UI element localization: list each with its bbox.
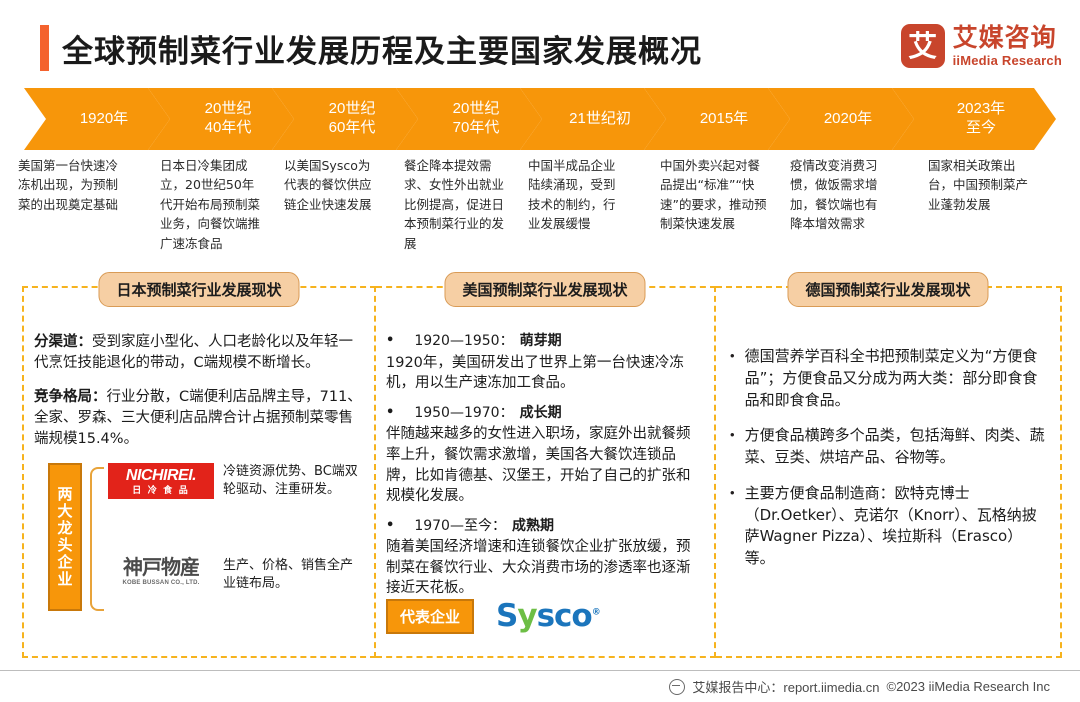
usa-stage-3: •1970—至今：成熟期随着美国经济增速和连锁餐饮企业扩张放缓，预制菜在餐饮行业… <box>386 517 704 599</box>
timeline-step-7-label: 2020年 <box>824 110 872 129</box>
timeline-step-2-label2: 40年代 <box>205 119 252 138</box>
japan-paragraph-competition-label: 竞争格局： <box>34 389 107 405</box>
nichirei-logo-line1: NICHIREI. <box>126 468 196 484</box>
bullet-icon: • <box>730 346 735 411</box>
timeline-step-6-label: 2015年 <box>700 110 748 129</box>
japan-paragraph-competition: 竞争格局：行业分散，C端便利店品牌主导，711、全家、罗森、三大便利店品牌合计占… <box>34 387 364 450</box>
timeline-description-1: 美国第一台快速冷冻机出现，为预制菜的出现奠定基础 <box>18 156 122 214</box>
usa-stage-1-body: 1920年，美国研发出了世界上第一台快速冷冻机，用以生产速冻加工食品。 <box>386 353 704 394</box>
bullet-icon: • <box>730 483 735 570</box>
timeline-step-3-label: 20世纪 <box>329 100 376 119</box>
panel-japan-body: 分渠道：受到家庭小型化、人口老龄化以及年轻一代烹饪技能退化的带动，C端规模不断增… <box>24 328 374 656</box>
usa-stage-2: •1950—1970：成长期伴随越来越多的女性进入职场，家庭外出就餐频率上升，餐… <box>386 404 704 507</box>
panel-japan: 日本预制菜行业发展现状 分渠道：受到家庭小型化、人口老龄化以及年轻一代烹饪技能退… <box>22 286 376 658</box>
usa-stage-3-body: 随着美国经济增速和连锁餐饮企业扩张放缓，预制菜在餐饮行业、大众消费市场的渗透率也… <box>386 537 704 599</box>
japan-leaders-label: 两大龙头企业 <box>48 463 82 611</box>
panel-germany: 德国预制菜行业发展现状 •德国营养学百科全书把预制菜定义为“方便食品”；方便食品… <box>716 286 1062 658</box>
usa-stage-1-name: 萌芽期 <box>520 332 562 352</box>
panel-usa: 美国预制菜行业发展现状 •1920—1950：萌芽期1920年，美国研发出了世界… <box>376 286 716 658</box>
timeline-step-8[interactable]: 2023年至今 <box>892 88 1056 150</box>
brand-name-en: iiMedia Research <box>953 54 1062 67</box>
japan-leader-row-kobe: 神戸物産 KOBE BUSSAN CO., LTD. 生产、价格、销售全产业链布… <box>108 557 364 593</box>
timeline-step-1[interactable]: 1920年 <box>24 88 170 150</box>
globe-icon <box>669 679 685 695</box>
usa-stage-1-head: •1920—1950：萌芽期 <box>386 332 704 352</box>
timeline-step-3-label2: 60年代 <box>329 119 376 138</box>
usa-stage-2-head: •1950—1970：成长期 <box>386 404 704 424</box>
timeline-description-3: 以美国Sysco为代表的餐饮供应链企业快速发展 <box>284 156 380 214</box>
timeline-description-4: 餐企降本提效需求、女性外出就业比例提高，促进日本预制菜行业的发展 <box>404 156 510 253</box>
usa-representative-companies: 代表企业 Sysco® <box>386 599 600 634</box>
country-panels: 日本预制菜行业发展现状 分渠道：受到家庭小型化、人口老龄化以及年轻一代烹饪技能退… <box>22 286 1062 658</box>
footer-copyright: ©2023 iiMedia Research Inc <box>887 679 1051 694</box>
nichirei-logo-icon: NICHIREI. 日 冷 食 品 <box>108 463 214 499</box>
bullet-icon: • <box>386 404 394 424</box>
bullet-icon: • <box>386 332 394 352</box>
kobe-logo-line1: 神戸物産 <box>123 557 199 577</box>
japan-paragraph-channel-label: 分渠道： <box>34 334 92 350</box>
japan-leader-nichirei-desc: 冷链资源优势、BC端双轮驱动、注重研发。 <box>223 463 364 499</box>
nichirei-logo-line2: 日 冷 食 品 <box>132 486 190 495</box>
timeline-description-6: 中国外卖兴起对餐品提出“标准”“快速”的要求，推动预制菜快速发展 <box>660 156 770 234</box>
brand-mark-icon: 艾 <box>901 24 945 68</box>
usa-stage-1: •1920—1950：萌芽期1920年，美国研发出了世界上第一台快速冷冻机，用以… <box>386 332 704 394</box>
usa-rep-badge: 代表企业 <box>386 599 474 634</box>
timeline-step-1-label: 1920年 <box>80 110 128 129</box>
panel-germany-body: •德国营养学百科全书把预制菜定义为“方便食品”；方便食品又分成为两大类：部分即食… <box>716 342 1060 656</box>
timeline-step-4-label: 20世纪 <box>453 100 500 119</box>
germany-item-3-text: 主要方便食品制造商：欧特克博士（Dr.Oetker）、克诺尔（Knorr）、瓦格… <box>745 483 1046 570</box>
panel-japan-title: 日本预制菜行业发展现状 <box>98 272 299 307</box>
timeline-description-8: 国家相关政策出台，中国预制菜产业蓬勃发展 <box>928 156 1032 214</box>
bullet-icon: • <box>730 425 735 469</box>
germany-item-3: •主要方便食品制造商：欧特克博士（Dr.Oetker）、克诺尔（Knorr）、瓦… <box>730 483 1046 570</box>
germany-item-1: •德国营养学百科全书把预制菜定义为“方便食品”；方便食品又分成为两大类：部分即食… <box>730 346 1046 411</box>
timeline-descriptions: 美国第一台快速冷冻机出现，为预制菜的出现奠定基础日本日冷集团成立，20世纪50年… <box>0 156 1080 276</box>
panel-germany-title: 德国预制菜行业发展现状 <box>787 272 988 307</box>
germany-item-2-text: 方便食品横跨多个品类，包括海鲜、肉类、蔬菜、豆类、烘培产品、谷物等。 <box>745 425 1046 469</box>
japan-paragraph-channel: 分渠道：受到家庭小型化、人口老龄化以及年轻一代烹饪技能退化的带动，C端规模不断增… <box>34 332 364 374</box>
usa-stage-2-name: 成长期 <box>520 404 562 424</box>
page-title: 全球预制菜行业发展历程及主要国家发展概况 <box>62 26 702 71</box>
timeline-step-5-label: 21世纪初 <box>569 110 631 129</box>
brand-name-cn: 艾媒咨询 <box>953 25 1062 50</box>
usa-stage-2-period: 1950—1970： <box>414 404 513 424</box>
sysco-logo-icon: Sysco® <box>496 601 600 632</box>
usa-stage-3-head: •1970—至今：成熟期 <box>386 517 704 537</box>
germany-item-1-text: 德国营养学百科全书把预制菜定义为“方便食品”；方便食品又分成为两大类：部分即食食… <box>745 346 1046 411</box>
timeline-description-7: 疫情改变消费习惯，做饭需求增加，餐饮端也有降本增效需求 <box>790 156 888 234</box>
kobe-bussan-logo-icon: 神戸物産 KOBE BUSSAN CO., LTD. <box>108 557 214 586</box>
usa-stage-2-body: 伴随越来越多的女性进入职场，家庭外出就餐频率上升，餐饮需求激增，美国各大餐饮连锁… <box>386 424 704 506</box>
kobe-logo-sub: KOBE BUSSAN CO., LTD. <box>122 580 199 586</box>
timeline-step-8-label2: 至今 <box>957 119 1005 138</box>
title-accent-bar <box>40 25 49 71</box>
brand-text: 艾媒咨询 iiMedia Research <box>953 25 1062 67</box>
japan-leader-row-nichirei: NICHIREI. 日 冷 食 品 冷链资源优势、BC端双轮驱动、注重研发。 <box>108 463 364 499</box>
panel-usa-title: 美国预制菜行业发展现状 <box>444 272 645 307</box>
usa-stage-1-period: 1920—1950： <box>414 332 513 352</box>
timeline-description-5: 中国半成品企业陆续涌现，受到技术的制约，行业发展缓慢 <box>528 156 626 234</box>
page-footer: 艾媒报告中心：report.iimedia.cn ©2023 iiMedia R… <box>0 670 1080 702</box>
germany-item-2: •方便食品横跨多个品类，包括海鲜、肉类、蔬菜、豆类、烘培产品、谷物等。 <box>730 425 1046 469</box>
usa-stage-3-period: 1970—至今： <box>414 517 506 537</box>
bullet-icon: • <box>386 517 394 537</box>
page-header: 全球预制菜行业发展历程及主要国家发展概况 艾 艾媒咨询 iiMedia Rese… <box>0 0 1080 88</box>
japan-leaders-block: 两大龙头企业 NICHIREI. 日 冷 食 品 冷链资源优势、BC端双轮驱动、… <box>34 463 364 613</box>
usa-stage-3-name: 成熟期 <box>512 517 554 537</box>
timeline-step-4-label2: 70年代 <box>453 119 500 138</box>
footer-report-center: 艾媒报告中心：report.iimedia.cn <box>692 677 879 696</box>
brace-icon <box>90 467 104 611</box>
timeline-description-2: 日本日冷集团成立，20世纪50年代开始布局预制菜业务，向餐饮端推广速冻食品 <box>160 156 264 253</box>
timeline-step-8-label: 2023年 <box>957 100 1005 119</box>
brand-logo: 艾 艾媒咨询 iiMedia Research <box>901 24 1062 68</box>
timeline-step-2-label: 20世纪 <box>205 100 252 119</box>
timeline-arrows: 1920年20世纪40年代20世纪60年代20世纪70年代21世纪初2015年2… <box>0 88 1080 150</box>
japan-leader-kobe-desc: 生产、价格、销售全产业链布局。 <box>223 557 364 593</box>
